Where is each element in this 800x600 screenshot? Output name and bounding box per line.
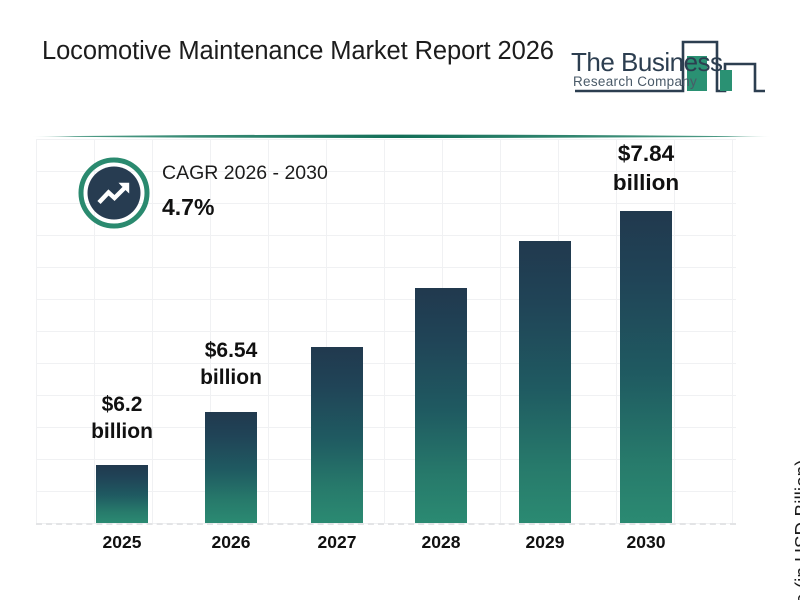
svg-text:Research Company: Research Company [573, 74, 697, 89]
x-tick-2030: 2030 [606, 532, 686, 553]
company-logo: The Business Research Company [565, 30, 765, 98]
cagr-value-label: 4.7% [162, 194, 412, 221]
x-tick-2025: 2025 [82, 532, 162, 553]
x-tick-2027: 2027 [297, 532, 377, 553]
svg-text:The Business: The Business [571, 47, 723, 77]
axis-baseline [36, 523, 736, 525]
cagr-period-label: CAGR 2026 - 2030 [162, 162, 412, 185]
bar-2027[interactable] [311, 347, 363, 523]
bar-2028[interactable] [415, 288, 467, 523]
bar-2030[interactable] [620, 211, 672, 523]
value-label-2025: $6.2 billion [62, 392, 182, 446]
bar-2026[interactable] [205, 412, 257, 523]
x-tick-2028: 2028 [401, 532, 481, 553]
cagr-text-block: CAGR 2026 - 2030 4.7% [162, 162, 412, 221]
title-divider [30, 126, 772, 131]
value-label-2030: $7.84 billion [586, 140, 706, 198]
chart-canvas: Locomotive Maintenance Market Report 202… [0, 0, 800, 600]
x-tick-2026: 2026 [191, 532, 271, 553]
trending-up-icon [78, 157, 150, 229]
x-tick-2029: 2029 [505, 532, 585, 553]
page-title: Locomotive Maintenance Market Report 202… [42, 34, 562, 69]
bar-2025[interactable] [96, 465, 148, 523]
y-axis-title: Market Size (in USD Billion) [792, 459, 800, 600]
bar-2029[interactable] [519, 241, 571, 523]
value-label-2026: $6.54 billion [171, 338, 291, 392]
bar-chart-logo-icon: The Business Research Company [565, 30, 765, 98]
